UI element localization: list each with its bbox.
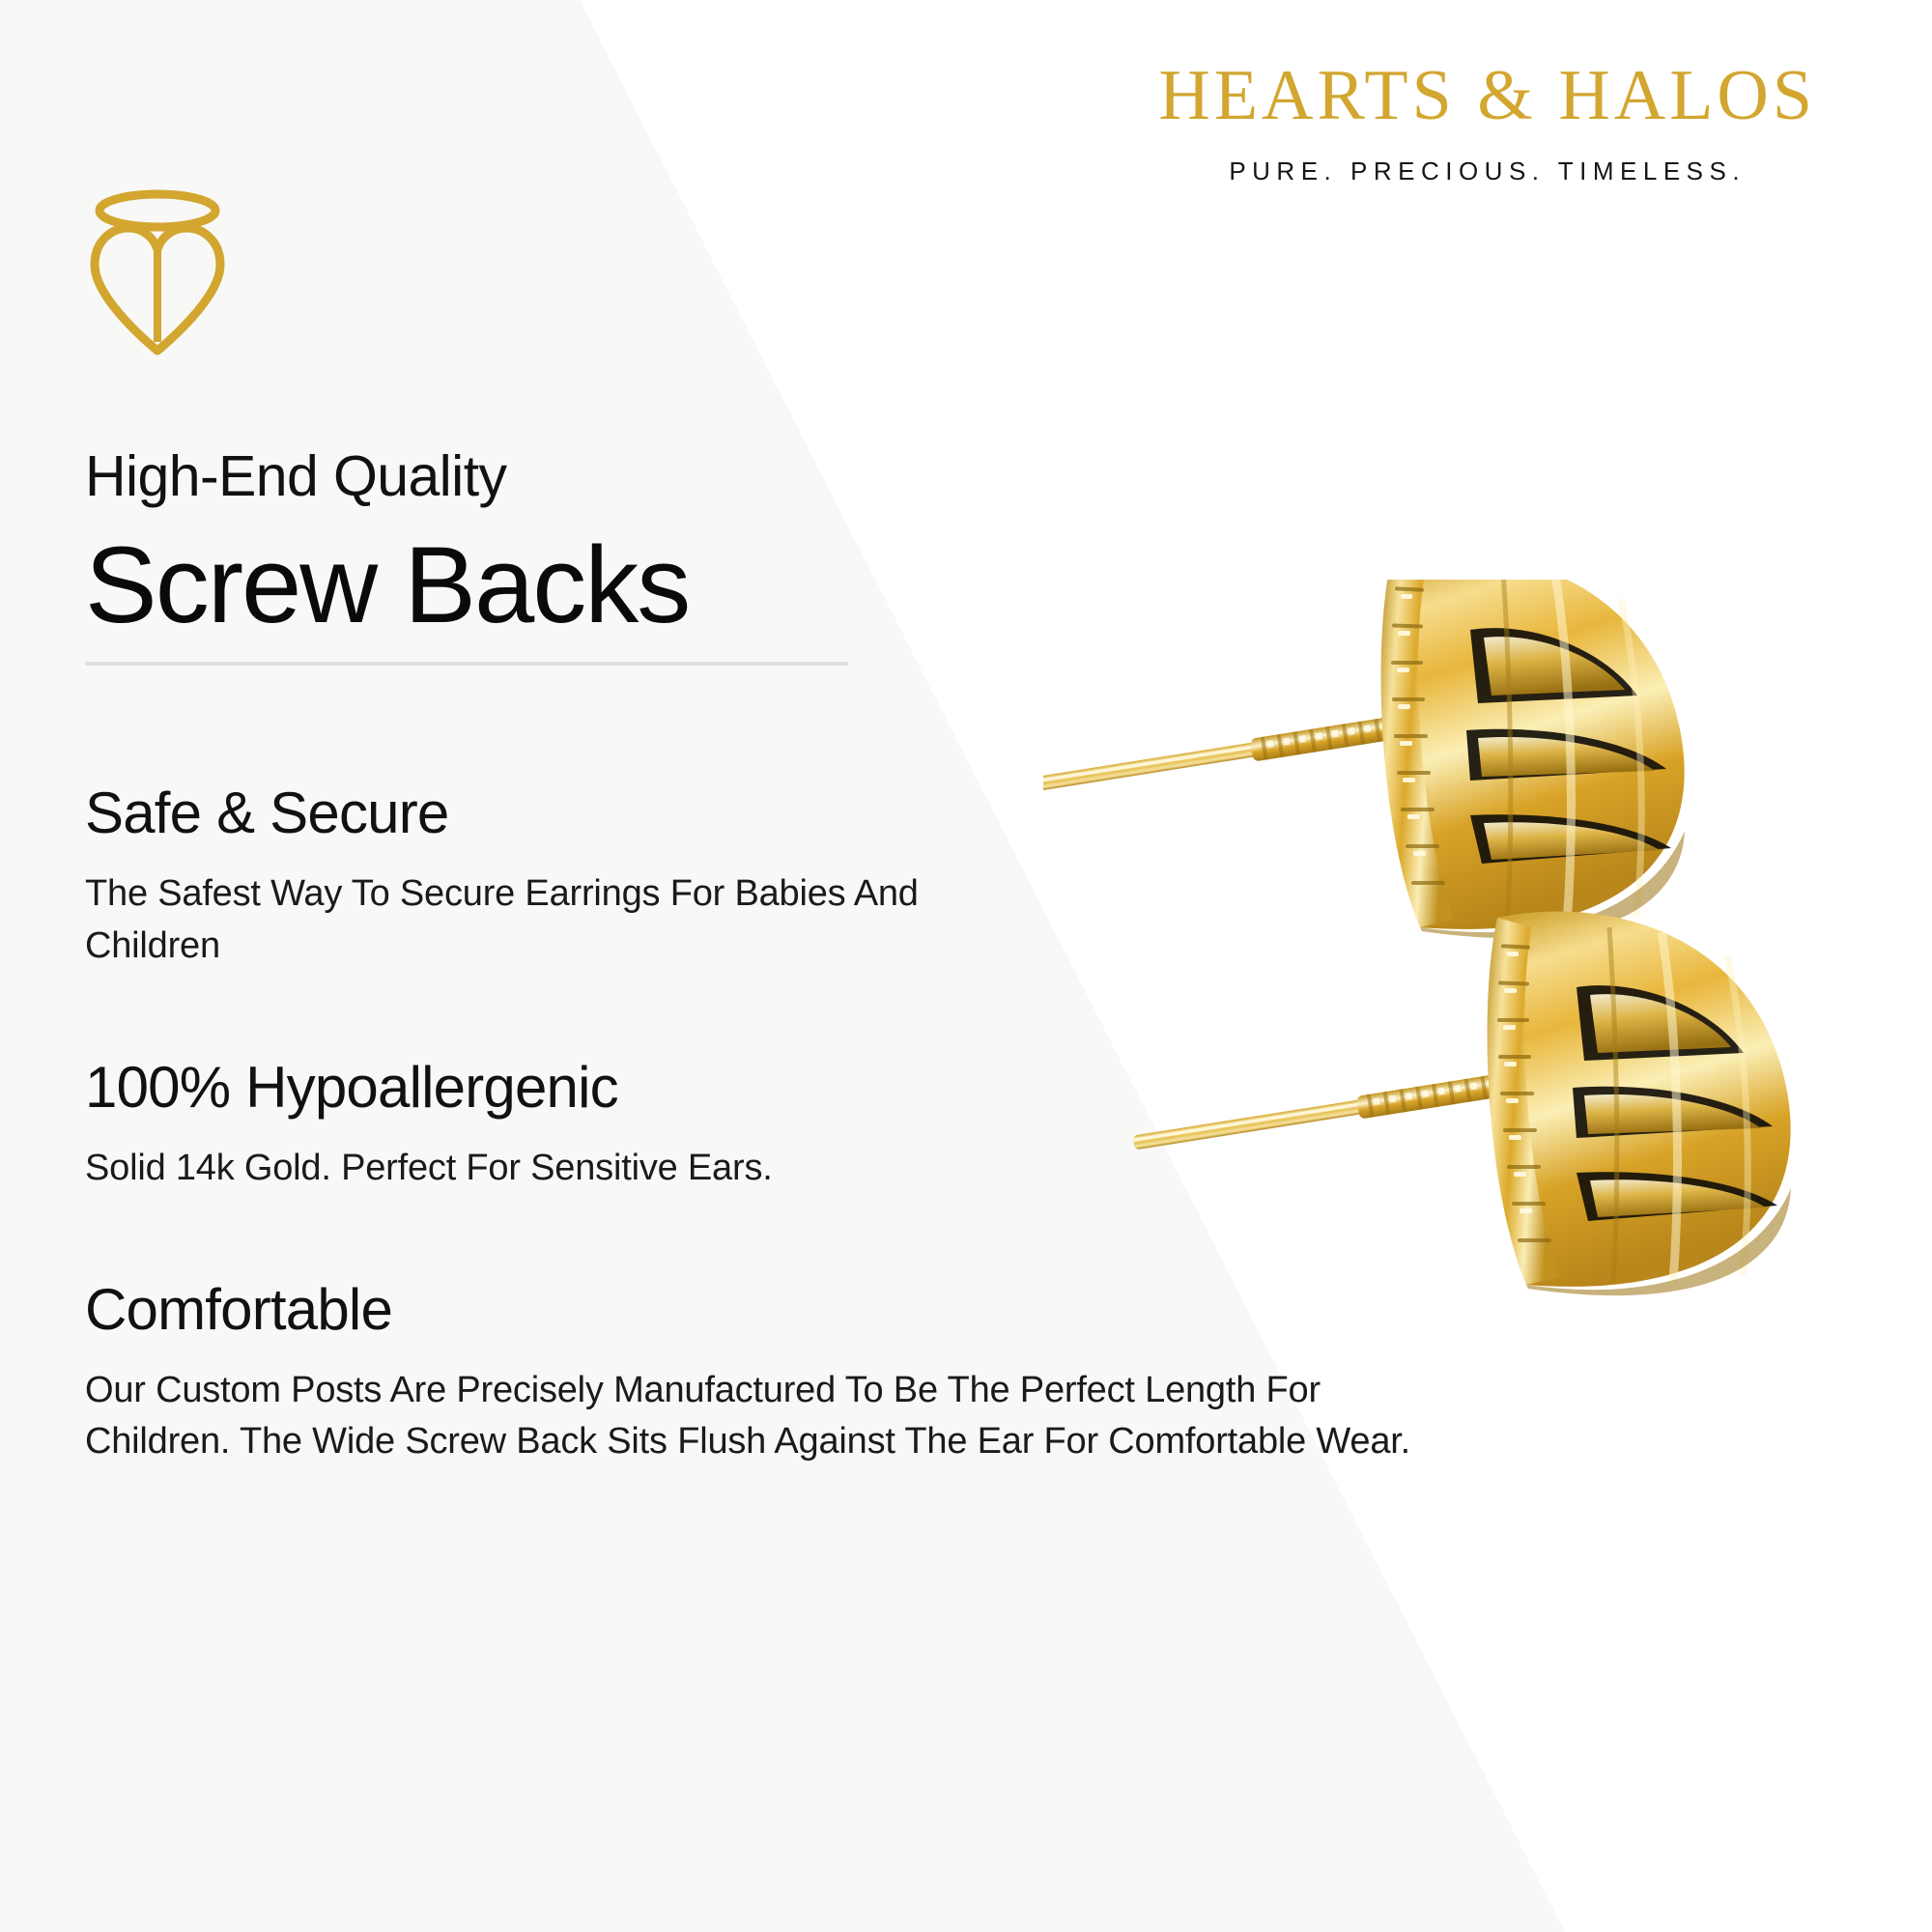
brand-tagline: PURE. PRECIOUS. TIMELESS. bbox=[1158, 156, 1816, 186]
earring-bottom bbox=[1132, 912, 1791, 1296]
feature-body: Solid 14k Gold. Perfect For Sensitive Ea… bbox=[85, 1143, 1090, 1195]
halo-heart-icon bbox=[75, 172, 240, 355]
feature-body: The Safest Way To Secure Earrings For Ba… bbox=[85, 868, 1037, 973]
gold-screw-back-earrings-image bbox=[1043, 580, 1932, 1546]
earring-top bbox=[1043, 580, 1685, 938]
hero-eyebrow: High-End Quality bbox=[85, 446, 1437, 508]
brand-name: HEARTS & HALOS bbox=[1158, 60, 1816, 131]
headline-divider bbox=[85, 662, 848, 666]
brand-logo: HEARTS & HALOS PURE. PRECIOUS. TIMELESS. bbox=[1158, 60, 1816, 186]
